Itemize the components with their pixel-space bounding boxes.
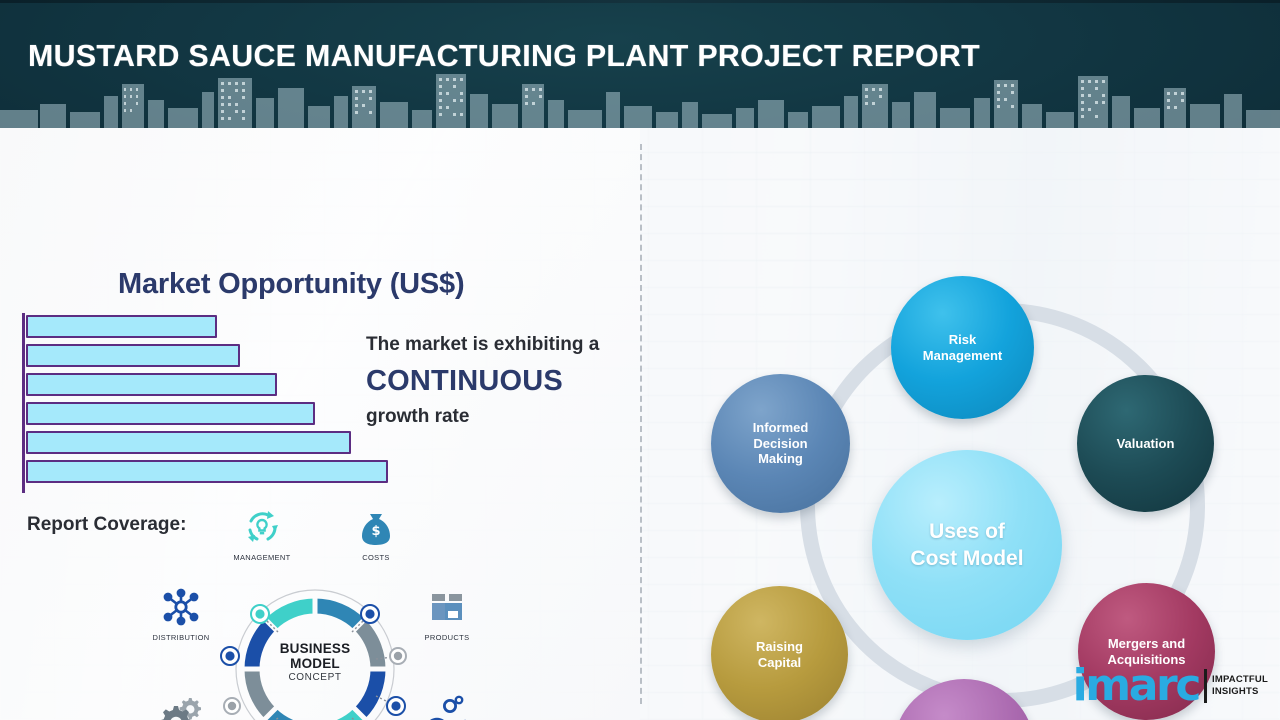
bar-1 — [26, 315, 217, 338]
chart-y-axis — [22, 313, 25, 493]
node-valuation[interactable]: Valuation — [1077, 375, 1214, 512]
callout-line-3: growth rate — [366, 404, 636, 430]
logo-tagline-line-2: INSIGHTS — [1212, 686, 1268, 698]
bm-center-line-1: BUSINESS — [255, 641, 375, 656]
logo-tagline: IMPACTFUL INSIGHTS — [1212, 674, 1268, 698]
page-header: MUSTARD SAUCE MANUFACTURING PLANT PROJEC… — [0, 0, 1280, 128]
bar-2 — [26, 344, 240, 367]
node-uses-of-cost-model: Uses of Cost Model — [872, 450, 1062, 640]
informed-line-3: Making — [753, 451, 809, 467]
city-skyline-graphic — [0, 66, 1280, 128]
logo-divider-bar — [1204, 669, 1207, 703]
bm-item-management: MANAGEMENT — [219, 504, 305, 562]
bm-label-costs: COSTS — [333, 553, 419, 562]
bm-center-line-2: MODEL — [255, 656, 375, 671]
bm-label-products: PRODUCTS — [404, 633, 490, 642]
bar-5 — [26, 431, 351, 454]
bm-item-products: PRODUCTS — [404, 584, 490, 642]
node-raising-capital[interactable]: Raising Capital — [711, 586, 848, 720]
market-growth-callout: The market is exhibiting a CONTINUOUS gr… — [366, 332, 636, 430]
gears-icon — [138, 691, 224, 720]
business-model-center-text: BUSINESS MODEL CONCEPT — [255, 641, 375, 685]
business-model-infographic: BUSINESS MODEL CONCEPT — [130, 506, 510, 720]
center-label-line-2: Cost Model — [910, 545, 1023, 572]
svg-text:$: $ — [371, 524, 380, 539]
header-top-accent — [0, 0, 1280, 3]
raising-capital-line-2: Capital — [756, 655, 803, 671]
raising-capital-line-1: Raising — [756, 639, 803, 655]
bar-4 — [26, 402, 315, 425]
market-opportunity-bar-chart — [22, 313, 422, 493]
main-content: Market Opportunity (US$) The market is e… — [0, 128, 1280, 720]
node-risk-management[interactable]: Risk Management — [891, 276, 1034, 419]
callout-line-1: The market is exhibiting a — [366, 332, 636, 358]
logo-tagline-line-1: IMPACTFUL — [1212, 674, 1268, 686]
valuation-label: Valuation — [1117, 436, 1175, 452]
recycle-bulb-icon — [219, 504, 305, 550]
bm-center-line-3: CONCEPT — [255, 671, 375, 685]
bar-3 — [26, 373, 277, 396]
node-informed-decision-making[interactable]: Informed Decision Making — [711, 374, 850, 513]
bm-item-revenue: REVENUE — [404, 691, 490, 720]
vertical-dashed-divider — [640, 144, 642, 704]
informed-line-1: Informed — [753, 420, 809, 436]
bm-label-management: MANAGEMENT — [219, 553, 305, 562]
box-icon — [404, 584, 490, 630]
bar-6 — [26, 460, 388, 483]
imarc-wordmark: imarc — [1073, 666, 1199, 706]
risk-management-line-1: Risk — [923, 332, 1002, 348]
page-title: MUSTARD SAUCE MANUFACTURING PLANT PROJEC… — [28, 38, 980, 74]
bm-item-distribution: DISTRIBUTION — [138, 584, 224, 642]
market-opportunity-title: Market Opportunity (US$) — [118, 268, 464, 301]
bm-item-services: SERVICES — [138, 691, 224, 720]
uses-of-cost-model-diagram: Uses of Cost Model Risk Management Valua… — [640, 128, 1280, 720]
network-nodes-icon — [138, 584, 224, 630]
mergers-line-1: Mergers and — [1107, 636, 1185, 652]
risk-management-line-2: Management — [923, 348, 1002, 364]
center-label-line-1: Uses of — [910, 518, 1023, 545]
bm-item-costs: $ COSTS — [333, 504, 419, 562]
informed-line-2: Decision — [753, 436, 809, 452]
money-bag-icon: $ — [333, 504, 419, 550]
bm-label-distribution: DISTRIBUTION — [138, 633, 224, 642]
imarc-logo: imarc IMPACTFUL INSIGHTS — [1073, 666, 1268, 706]
callout-line-2-highlight: CONTINUOUS — [366, 358, 636, 404]
hand-coins-icon — [404, 691, 490, 720]
